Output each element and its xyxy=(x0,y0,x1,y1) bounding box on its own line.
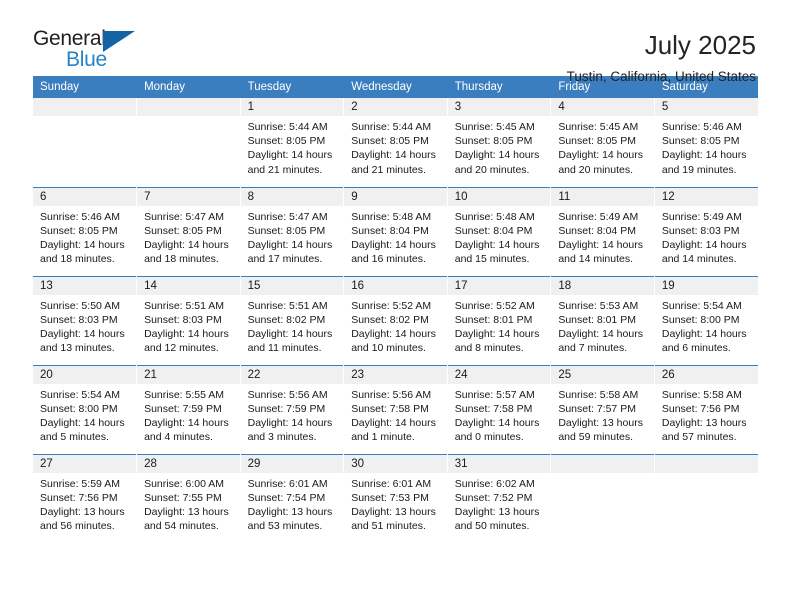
daylight-text-line2: and 16 minutes. xyxy=(351,252,441,266)
day-details: Sunrise: 5:58 AMSunset: 7:56 PMDaylight:… xyxy=(655,384,758,445)
calendar-day-cell[interactable]: 11Sunrise: 5:49 AMSunset: 8:04 PMDayligh… xyxy=(551,187,655,276)
sunrise-text: Sunrise: 5:54 AM xyxy=(40,388,130,402)
day-details: Sunrise: 5:56 AMSunset: 7:58 PMDaylight:… xyxy=(344,384,447,445)
calendar-week-row: 1Sunrise: 5:44 AMSunset: 8:05 PMDaylight… xyxy=(33,98,758,187)
day-details: Sunrise: 5:50 AMSunset: 8:03 PMDaylight:… xyxy=(33,295,136,356)
sunset-text: Sunset: 8:05 PM xyxy=(144,224,234,238)
sunrise-text: Sunrise: 5:45 AM xyxy=(558,120,648,134)
daylight-text-line2: and 53 minutes. xyxy=(248,519,338,533)
sunrise-text: Sunrise: 5:51 AM xyxy=(248,299,338,313)
day-details: Sunrise: 5:48 AMSunset: 8:04 PMDaylight:… xyxy=(448,206,551,267)
calendar-day-cell[interactable]: 3Sunrise: 5:45 AMSunset: 8:05 PMDaylight… xyxy=(447,98,551,187)
daylight-text-line2: and 51 minutes. xyxy=(351,519,441,533)
daylight-text-line2: and 4 minutes. xyxy=(144,430,234,444)
sunrise-text: Sunrise: 5:50 AM xyxy=(40,299,130,313)
daylight-text-line2: and 13 minutes. xyxy=(40,341,130,355)
calendar-day-cell[interactable]: 8Sunrise: 5:47 AMSunset: 8:05 PMDaylight… xyxy=(240,187,344,276)
sunset-text: Sunset: 7:59 PM xyxy=(144,402,234,416)
calendar-week-row: 6Sunrise: 5:46 AMSunset: 8:05 PMDaylight… xyxy=(33,187,758,276)
day-number xyxy=(655,455,758,473)
day-number: 10 xyxy=(448,188,551,206)
daylight-text-line2: and 15 minutes. xyxy=(455,252,545,266)
calendar-day-cell[interactable]: 31Sunrise: 6:02 AMSunset: 7:52 PMDayligh… xyxy=(447,454,551,543)
calendar-day-cell[interactable]: 5Sunrise: 5:46 AMSunset: 8:05 PMDaylight… xyxy=(654,98,758,187)
day-details: Sunrise: 5:55 AMSunset: 7:59 PMDaylight:… xyxy=(137,384,240,445)
calendar-day-cell[interactable]: 9Sunrise: 5:48 AMSunset: 8:04 PMDaylight… xyxy=(344,187,448,276)
sunset-text: Sunset: 8:05 PM xyxy=(248,134,338,148)
calendar-day-cell[interactable]: 7Sunrise: 5:47 AMSunset: 8:05 PMDaylight… xyxy=(137,187,241,276)
day-number: 26 xyxy=(655,366,758,384)
daylight-text-line2: and 10 minutes. xyxy=(351,341,441,355)
sunrise-text: Sunrise: 6:01 AM xyxy=(351,477,441,491)
sunrise-text: Sunrise: 5:44 AM xyxy=(351,120,441,134)
day-number: 13 xyxy=(33,277,136,295)
calendar-day-cell[interactable]: 4Sunrise: 5:45 AMSunset: 8:05 PMDaylight… xyxy=(551,98,655,187)
daylight-text-line1: Daylight: 13 hours xyxy=(455,505,545,519)
daylight-text-line1: Daylight: 13 hours xyxy=(558,416,648,430)
sunset-text: Sunset: 8:03 PM xyxy=(40,313,130,327)
day-number: 3 xyxy=(448,98,551,116)
daylight-text-line2: and 6 minutes. xyxy=(662,341,752,355)
day-details: Sunrise: 5:51 AMSunset: 8:02 PMDaylight:… xyxy=(241,295,344,356)
daylight-text-line1: Daylight: 14 hours xyxy=(662,148,752,162)
sunrise-text: Sunrise: 6:00 AM xyxy=(144,477,234,491)
daylight-text-line1: Daylight: 14 hours xyxy=(248,416,338,430)
daylight-text-line1: Daylight: 14 hours xyxy=(558,327,648,341)
day-details: Sunrise: 5:53 AMSunset: 8:01 PMDaylight:… xyxy=(551,295,654,356)
daylight-text-line1: Daylight: 14 hours xyxy=(144,327,234,341)
day-details: Sunrise: 5:52 AMSunset: 8:02 PMDaylight:… xyxy=(344,295,447,356)
sunset-text: Sunset: 7:52 PM xyxy=(455,491,545,505)
daylight-text-line1: Daylight: 14 hours xyxy=(455,148,545,162)
calendar-week-row: 20Sunrise: 5:54 AMSunset: 8:00 PMDayligh… xyxy=(33,365,758,454)
sunrise-text: Sunrise: 5:46 AM xyxy=(662,120,752,134)
daylight-text-line1: Daylight: 14 hours xyxy=(662,238,752,252)
day-number: 8 xyxy=(241,188,344,206)
daylight-text-line2: and 3 minutes. xyxy=(248,430,338,444)
calendar-table: Sunday Monday Tuesday Wednesday Thursday… xyxy=(33,76,758,543)
day-number: 20 xyxy=(33,366,136,384)
daylight-text-line2: and 50 minutes. xyxy=(455,519,545,533)
sunrise-text: Sunrise: 5:55 AM xyxy=(144,388,234,402)
sunset-text: Sunset: 8:05 PM xyxy=(455,134,545,148)
calendar-day-cell[interactable]: 30Sunrise: 6:01 AMSunset: 7:53 PMDayligh… xyxy=(344,454,448,543)
daylight-text-line1: Daylight: 14 hours xyxy=(662,327,752,341)
weekday-header-sunday: Sunday xyxy=(33,76,137,98)
calendar-day-cell[interactable]: 24Sunrise: 5:57 AMSunset: 7:58 PMDayligh… xyxy=(447,365,551,454)
day-number: 27 xyxy=(33,455,136,473)
daylight-text-line2: and 17 minutes. xyxy=(248,252,338,266)
sunset-text: Sunset: 7:53 PM xyxy=(351,491,441,505)
sunrise-text: Sunrise: 5:57 AM xyxy=(455,388,545,402)
calendar-day-cell[interactable]: 19Sunrise: 5:54 AMSunset: 8:00 PMDayligh… xyxy=(654,276,758,365)
calendar-day-cell[interactable]: 15Sunrise: 5:51 AMSunset: 8:02 PMDayligh… xyxy=(240,276,344,365)
calendar-day-cell-empty xyxy=(33,98,137,187)
day-details: Sunrise: 5:49 AMSunset: 8:03 PMDaylight:… xyxy=(655,206,758,267)
daylight-text-line1: Daylight: 14 hours xyxy=(351,238,441,252)
daylight-text-line1: Daylight: 14 hours xyxy=(40,238,130,252)
sunset-text: Sunset: 7:56 PM xyxy=(662,402,752,416)
daylight-text-line2: and 54 minutes. xyxy=(144,519,234,533)
day-details: Sunrise: 6:00 AMSunset: 7:55 PMDaylight:… xyxy=(137,473,240,534)
sunset-text: Sunset: 7:57 PM xyxy=(558,402,648,416)
day-number: 28 xyxy=(137,455,240,473)
sunset-text: Sunset: 8:01 PM xyxy=(558,313,648,327)
daylight-text-line1: Daylight: 14 hours xyxy=(248,327,338,341)
day-number: 2 xyxy=(344,98,447,116)
day-number: 31 xyxy=(448,455,551,473)
calendar-day-cell[interactable]: 20Sunrise: 5:54 AMSunset: 8:00 PMDayligh… xyxy=(33,365,137,454)
day-details: Sunrise: 5:57 AMSunset: 7:58 PMDaylight:… xyxy=(448,384,551,445)
calendar-day-cell[interactable]: 18Sunrise: 5:53 AMSunset: 8:01 PMDayligh… xyxy=(551,276,655,365)
sunset-text: Sunset: 7:55 PM xyxy=(144,491,234,505)
sunset-text: Sunset: 8:05 PM xyxy=(248,224,338,238)
generalblue-logo[interactable]: General Blue xyxy=(33,28,153,74)
sunrise-text: Sunrise: 6:02 AM xyxy=(455,477,545,491)
daylight-text-line2: and 5 minutes. xyxy=(40,430,130,444)
day-number: 25 xyxy=(551,366,654,384)
calendar-day-cell-empty xyxy=(654,454,758,543)
daylight-text-line1: Daylight: 14 hours xyxy=(144,416,234,430)
triangle-icon xyxy=(103,31,135,52)
calendar-day-cell[interactable]: 13Sunrise: 5:50 AMSunset: 8:03 PMDayligh… xyxy=(33,276,137,365)
daylight-text-line1: Daylight: 14 hours xyxy=(40,327,130,341)
daylight-text-line1: Daylight: 14 hours xyxy=(455,238,545,252)
day-number: 14 xyxy=(137,277,240,295)
sunset-text: Sunset: 8:04 PM xyxy=(351,224,441,238)
day-number: 5 xyxy=(655,98,758,116)
sunrise-text: Sunrise: 5:45 AM xyxy=(455,120,545,134)
day-details: Sunrise: 5:56 AMSunset: 7:59 PMDaylight:… xyxy=(241,384,344,445)
calendar-day-cell[interactable]: 28Sunrise: 6:00 AMSunset: 7:55 PMDayligh… xyxy=(137,454,241,543)
day-number xyxy=(33,98,136,116)
sunset-text: Sunset: 8:04 PM xyxy=(455,224,545,238)
day-number: 11 xyxy=(551,188,654,206)
sunrise-text: Sunrise: 5:52 AM xyxy=(455,299,545,313)
sunset-text: Sunset: 8:01 PM xyxy=(455,313,545,327)
day-details: Sunrise: 5:58 AMSunset: 7:57 PMDaylight:… xyxy=(551,384,654,445)
day-number: 29 xyxy=(241,455,344,473)
sunrise-text: Sunrise: 5:47 AM xyxy=(248,210,338,224)
calendar-day-cell[interactable]: 1Sunrise: 5:44 AMSunset: 8:05 PMDaylight… xyxy=(240,98,344,187)
calendar-day-cell[interactable]: 21Sunrise: 5:55 AMSunset: 7:59 PMDayligh… xyxy=(137,365,241,454)
calendar-day-cell[interactable]: 17Sunrise: 5:52 AMSunset: 8:01 PMDayligh… xyxy=(447,276,551,365)
day-details: Sunrise: 5:45 AMSunset: 8:05 PMDaylight:… xyxy=(551,116,654,177)
day-details: Sunrise: 5:52 AMSunset: 8:01 PMDaylight:… xyxy=(448,295,551,356)
sunrise-text: Sunrise: 6:01 AM xyxy=(248,477,338,491)
daylight-text-line2: and 7 minutes. xyxy=(558,341,648,355)
day-details: Sunrise: 5:54 AMSunset: 8:00 PMDaylight:… xyxy=(33,384,136,445)
sunset-text: Sunset: 7:58 PM xyxy=(351,402,441,416)
sunset-text: Sunset: 8:05 PM xyxy=(40,224,130,238)
daylight-text-line1: Daylight: 14 hours xyxy=(248,148,338,162)
sunset-text: Sunset: 7:59 PM xyxy=(248,402,338,416)
daylight-text-line1: Daylight: 13 hours xyxy=(662,416,752,430)
day-details: Sunrise: 5:54 AMSunset: 8:00 PMDaylight:… xyxy=(655,295,758,356)
sunrise-text: Sunrise: 5:48 AM xyxy=(351,210,441,224)
daylight-text-line1: Daylight: 14 hours xyxy=(40,416,130,430)
daylight-text-line1: Daylight: 14 hours xyxy=(558,238,648,252)
weekday-header-monday: Monday xyxy=(137,76,241,98)
daylight-text-line2: and 18 minutes. xyxy=(40,252,130,266)
sunrise-text: Sunrise: 5:56 AM xyxy=(351,388,441,402)
day-details: Sunrise: 5:59 AMSunset: 7:56 PMDaylight:… xyxy=(33,473,136,534)
daylight-text-line1: Daylight: 14 hours xyxy=(351,148,441,162)
day-details: Sunrise: 5:44 AMSunset: 8:05 PMDaylight:… xyxy=(344,116,447,177)
day-number: 15 xyxy=(241,277,344,295)
day-number: 4 xyxy=(551,98,654,116)
day-number: 6 xyxy=(33,188,136,206)
daylight-text-line1: Daylight: 14 hours xyxy=(455,416,545,430)
calendar-day-cell[interactable]: 25Sunrise: 5:58 AMSunset: 7:57 PMDayligh… xyxy=(551,365,655,454)
daylight-text-line2: and 18 minutes. xyxy=(144,252,234,266)
daylight-text-line2: and 1 minute. xyxy=(351,430,441,444)
daylight-text-line2: and 19 minutes. xyxy=(662,163,752,177)
day-number: 22 xyxy=(241,366,344,384)
sunrise-text: Sunrise: 5:58 AM xyxy=(662,388,752,402)
sunset-text: Sunset: 8:04 PM xyxy=(558,224,648,238)
calendar-day-cell[interactable]: 6Sunrise: 5:46 AMSunset: 8:05 PMDaylight… xyxy=(33,187,137,276)
calendar-day-cell[interactable]: 23Sunrise: 5:56 AMSunset: 7:58 PMDayligh… xyxy=(344,365,448,454)
day-details: Sunrise: 5:44 AMSunset: 8:05 PMDaylight:… xyxy=(241,116,344,177)
sunset-text: Sunset: 8:00 PM xyxy=(662,313,752,327)
sunset-text: Sunset: 8:05 PM xyxy=(662,134,752,148)
daylight-text-line2: and 0 minutes. xyxy=(455,430,545,444)
day-number: 12 xyxy=(655,188,758,206)
daylight-text-line2: and 59 minutes. xyxy=(558,430,648,444)
day-details: Sunrise: 5:48 AMSunset: 8:04 PMDaylight:… xyxy=(344,206,447,267)
calendar-day-cell[interactable]: 2Sunrise: 5:44 AMSunset: 8:05 PMDaylight… xyxy=(344,98,448,187)
calendar-day-cell[interactable]: 29Sunrise: 6:01 AMSunset: 7:54 PMDayligh… xyxy=(240,454,344,543)
sunrise-text: Sunrise: 5:47 AM xyxy=(144,210,234,224)
day-number: 9 xyxy=(344,188,447,206)
day-details: Sunrise: 6:01 AMSunset: 7:53 PMDaylight:… xyxy=(344,473,447,534)
day-number xyxy=(137,98,240,116)
daylight-text-line2: and 14 minutes. xyxy=(662,252,752,266)
calendar-day-cell[interactable]: 22Sunrise: 5:56 AMSunset: 7:59 PMDayligh… xyxy=(240,365,344,454)
sunrise-text: Sunrise: 5:48 AM xyxy=(455,210,545,224)
sunset-text: Sunset: 8:03 PM xyxy=(144,313,234,327)
day-details: Sunrise: 5:46 AMSunset: 8:05 PMDaylight:… xyxy=(33,206,136,267)
sunrise-text: Sunrise: 5:53 AM xyxy=(558,299,648,313)
sunset-text: Sunset: 7:56 PM xyxy=(40,491,130,505)
daylight-text-line1: Daylight: 13 hours xyxy=(248,505,338,519)
day-number: 23 xyxy=(344,366,447,384)
day-number xyxy=(551,455,654,473)
day-number: 17 xyxy=(448,277,551,295)
calendar-day-cell-empty xyxy=(551,454,655,543)
daylight-text-line1: Daylight: 14 hours xyxy=(351,416,441,430)
logo-text-general: General xyxy=(33,27,106,50)
calendar-day-cell-empty xyxy=(137,98,241,187)
daylight-text-line1: Daylight: 14 hours xyxy=(455,327,545,341)
daylight-text-line2: and 20 minutes. xyxy=(455,163,545,177)
daylight-text-line2: and 11 minutes. xyxy=(248,341,338,355)
daylight-text-line2: and 20 minutes. xyxy=(558,163,648,177)
day-number: 7 xyxy=(137,188,240,206)
sunset-text: Sunset: 8:02 PM xyxy=(248,313,338,327)
day-number: 21 xyxy=(137,366,240,384)
page-title: July 2025 xyxy=(567,30,756,60)
daylight-text-line2: and 12 minutes. xyxy=(144,341,234,355)
day-details: Sunrise: 5:47 AMSunset: 8:05 PMDaylight:… xyxy=(137,206,240,267)
sunset-text: Sunset: 8:05 PM xyxy=(351,134,441,148)
day-number: 24 xyxy=(448,366,551,384)
daylight-text-line2: and 8 minutes. xyxy=(455,341,545,355)
sunset-text: Sunset: 8:00 PM xyxy=(40,402,130,416)
day-number: 1 xyxy=(241,98,344,116)
calendar-week-row: 27Sunrise: 5:59 AMSunset: 7:56 PMDayligh… xyxy=(33,454,758,543)
sunrise-text: Sunrise: 5:52 AM xyxy=(351,299,441,313)
title-block: July 2025 Tustin, California, United Sta… xyxy=(567,28,756,85)
sunset-text: Sunset: 8:05 PM xyxy=(558,134,648,148)
daylight-text-line2: and 21 minutes. xyxy=(351,163,441,177)
calendar-page: General Blue July 2025 Tustin, Californi… xyxy=(0,0,792,612)
daylight-text-line1: Daylight: 13 hours xyxy=(144,505,234,519)
day-details: Sunrise: 6:01 AMSunset: 7:54 PMDaylight:… xyxy=(241,473,344,534)
daylight-text-line2: and 21 minutes. xyxy=(248,163,338,177)
calendar-day-cell[interactable]: 27Sunrise: 5:59 AMSunset: 7:56 PMDayligh… xyxy=(33,454,137,543)
sunrise-text: Sunrise: 5:49 AM xyxy=(662,210,752,224)
daylight-text-line2: and 14 minutes. xyxy=(558,252,648,266)
day-details: Sunrise: 6:02 AMSunset: 7:52 PMDaylight:… xyxy=(448,473,551,534)
day-details: Sunrise: 5:49 AMSunset: 8:04 PMDaylight:… xyxy=(551,206,654,267)
day-details: Sunrise: 5:47 AMSunset: 8:05 PMDaylight:… xyxy=(241,206,344,267)
day-number: 18 xyxy=(551,277,654,295)
sunrise-text: Sunrise: 5:49 AM xyxy=(558,210,648,224)
sunrise-text: Sunrise: 5:46 AM xyxy=(40,210,130,224)
day-number: 19 xyxy=(655,277,758,295)
sunset-text: Sunset: 8:03 PM xyxy=(662,224,752,238)
page-header: General Blue July 2025 Tustin, Californi… xyxy=(0,0,792,76)
calendar-day-cell[interactable]: 12Sunrise: 5:49 AMSunset: 8:03 PMDayligh… xyxy=(654,187,758,276)
daylight-text-line1: Daylight: 13 hours xyxy=(40,505,130,519)
sunrise-text: Sunrise: 5:59 AM xyxy=(40,477,130,491)
sunrise-text: Sunrise: 5:51 AM xyxy=(144,299,234,313)
sunrise-text: Sunrise: 5:58 AM xyxy=(558,388,648,402)
daylight-text-line1: Daylight: 14 hours xyxy=(351,327,441,341)
calendar-week-row: 13Sunrise: 5:50 AMSunset: 8:03 PMDayligh… xyxy=(33,276,758,365)
day-number: 16 xyxy=(344,277,447,295)
day-details: Sunrise: 5:45 AMSunset: 8:05 PMDaylight:… xyxy=(448,116,551,177)
sunset-text: Sunset: 8:02 PM xyxy=(351,313,441,327)
logo-text-blue: Blue xyxy=(66,49,107,70)
weekday-header-wednesday: Wednesday xyxy=(344,76,448,98)
calendar-day-cell[interactable]: 26Sunrise: 5:58 AMSunset: 7:56 PMDayligh… xyxy=(654,365,758,454)
calendar-day-cell[interactable]: 14Sunrise: 5:51 AMSunset: 8:03 PMDayligh… xyxy=(137,276,241,365)
sunrise-text: Sunrise: 5:56 AM xyxy=(248,388,338,402)
daylight-text-line1: Daylight: 14 hours xyxy=(558,148,648,162)
sunset-text: Sunset: 7:54 PM xyxy=(248,491,338,505)
daylight-text-line2: and 56 minutes. xyxy=(40,519,130,533)
day-details: Sunrise: 5:46 AMSunset: 8:05 PMDaylight:… xyxy=(655,116,758,177)
calendar-wrapper: Sunday Monday Tuesday Wednesday Thursday… xyxy=(0,76,792,543)
calendar-body: 1Sunrise: 5:44 AMSunset: 8:05 PMDaylight… xyxy=(33,98,758,543)
weekday-header-thursday: Thursday xyxy=(447,76,551,98)
calendar-day-cell[interactable]: 10Sunrise: 5:48 AMSunset: 8:04 PMDayligh… xyxy=(447,187,551,276)
sunrise-text: Sunrise: 5:44 AM xyxy=(248,120,338,134)
sunset-text: Sunset: 7:58 PM xyxy=(455,402,545,416)
daylight-text-line1: Daylight: 14 hours xyxy=(248,238,338,252)
calendar-day-cell[interactable]: 16Sunrise: 5:52 AMSunset: 8:02 PMDayligh… xyxy=(344,276,448,365)
day-details: Sunrise: 5:51 AMSunset: 8:03 PMDaylight:… xyxy=(137,295,240,356)
daylight-text-line2: and 57 minutes. xyxy=(662,430,752,444)
weekday-header-tuesday: Tuesday xyxy=(240,76,344,98)
day-number: 30 xyxy=(344,455,447,473)
daylight-text-line1: Daylight: 14 hours xyxy=(144,238,234,252)
sunrise-text: Sunrise: 5:54 AM xyxy=(662,299,752,313)
daylight-text-line1: Daylight: 13 hours xyxy=(351,505,441,519)
